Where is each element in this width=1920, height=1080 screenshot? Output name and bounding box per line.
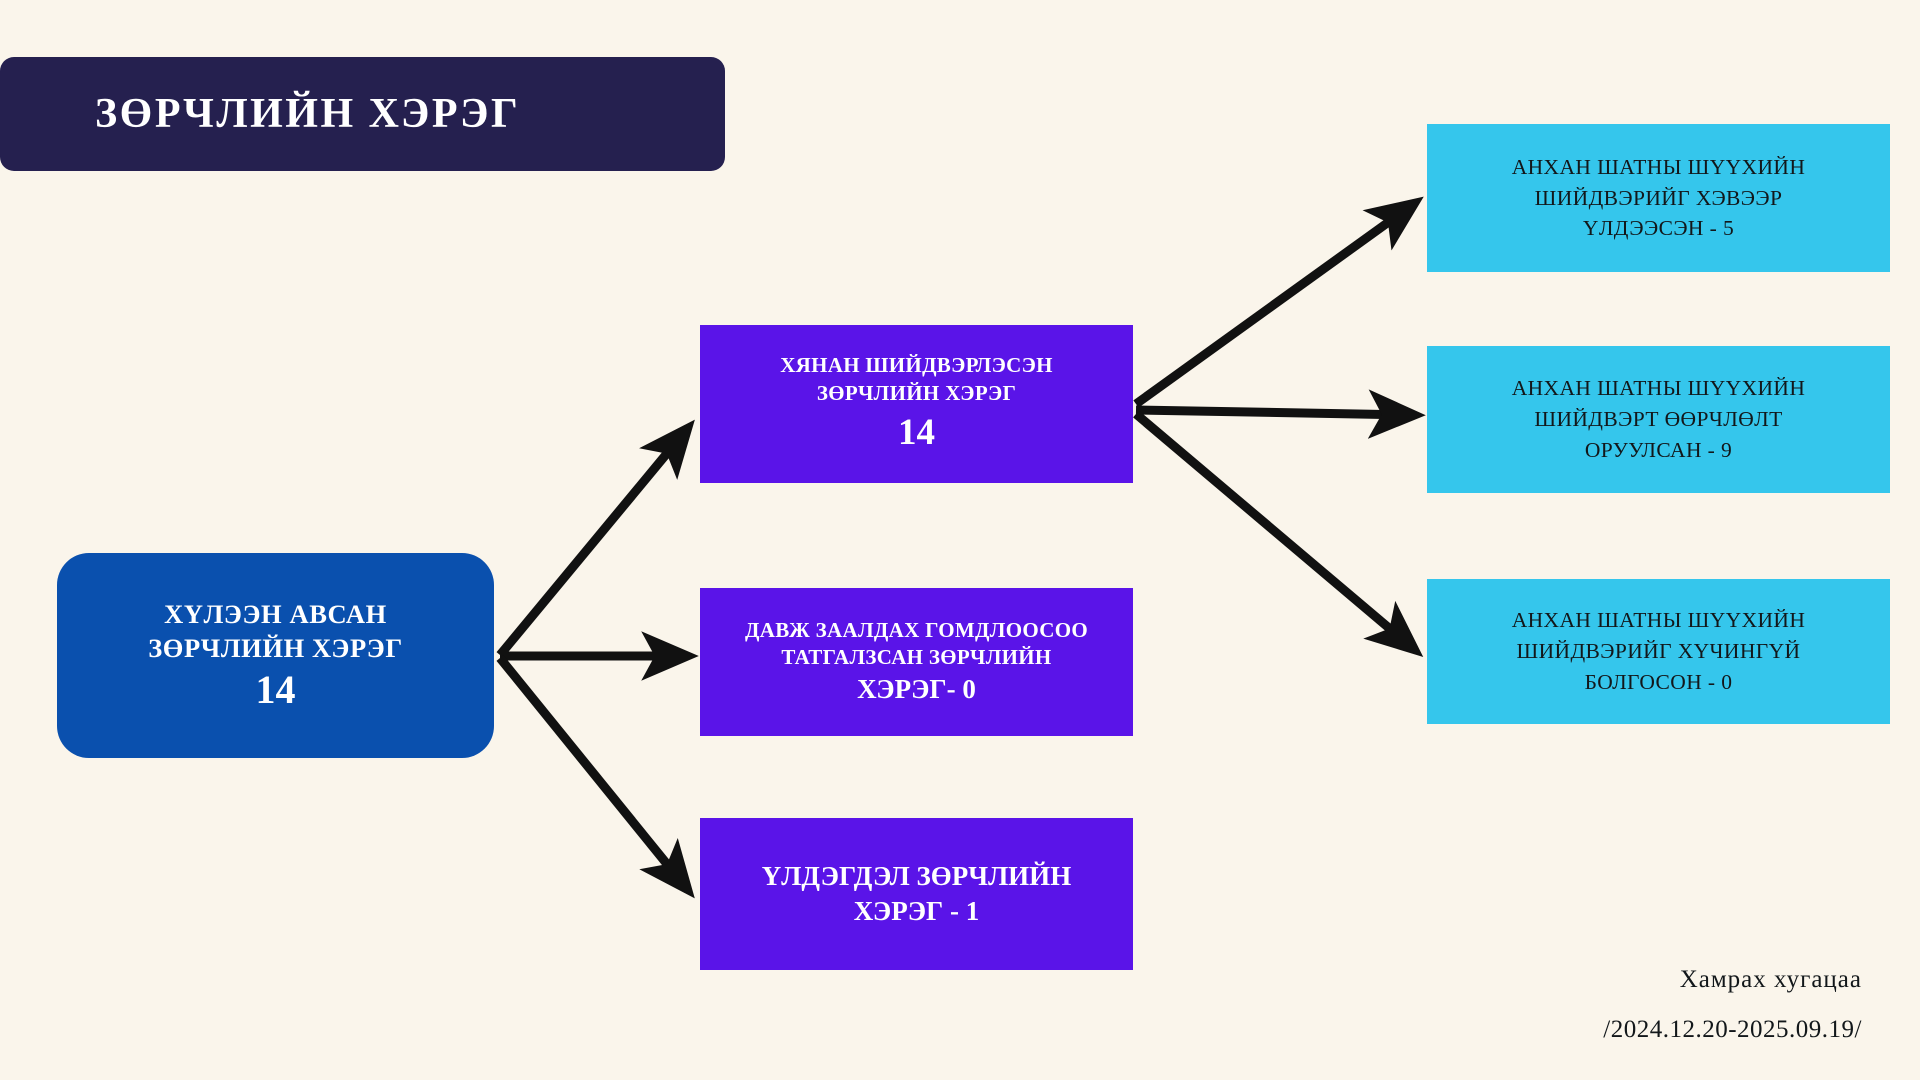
arrow-root-to-remaining (500, 658, 688, 890)
node-value: 14 (898, 411, 935, 455)
footer-period: Хамрах хугацаа /2024.12.20-2025.09.19/ (1603, 966, 1862, 1044)
node-label-line-3: ОРУУЛСАН - 9 (1585, 435, 1732, 466)
node-label-line-1: АНХАН ШАТНЫ ШҮҮХИЙН (1512, 605, 1806, 636)
node-label-line-3: ҮЛДЭЭСЭН - 5 (1583, 213, 1734, 244)
diagram-canvas: ЗӨРЧЛИЙН ХЭРЭГ ХҮЛЭЭН АВСАН ЗӨРЧЛИЙН ХЭР… (0, 0, 1920, 1080)
arrow-reviewed-to-annulled (1136, 414, 1415, 650)
arrow-reviewed-to-upheld (1136, 203, 1415, 404)
footer-label: Хамрах хугацаа (1603, 966, 1862, 994)
node-label-line-2: ТАТГАЛЗСАН ЗӨРЧЛИЙН (781, 644, 1051, 672)
arrow-reviewed-to-amended (1136, 410, 1415, 415)
node-label-line-3: БОЛГОСОН - 0 (1585, 667, 1733, 698)
page-title: ЗӨРЧЛИЙН ХЭРЭГ (0, 90, 520, 138)
node-label-line-1: ХҮЛЭЭН АВСАН (164, 598, 387, 632)
node-label-line-1: АНХАН ШАТНЫ ШҮҮХИЙН (1512, 373, 1806, 404)
node-label-line-2: ШИЙДВЭРИЙГ ХҮЧИНГҮЙ (1517, 636, 1801, 667)
node-decision-annulled: АНХАН ШАТНЫ ШҮҮХИЙН ШИЙДВЭРИЙГ ХҮЧИНГҮЙ … (1427, 579, 1890, 724)
footer-date-range: /2024.12.20-2025.09.19/ (1603, 1016, 1862, 1044)
node-label-line-1: АНХАН ШАТНЫ ШҮҮХИЙН (1512, 152, 1806, 183)
node-decision-amended: АНХАН ШАТНЫ ШҮҮХИЙН ШИЙДВЭРТ ӨӨРЧЛӨЛТ ОР… (1427, 346, 1890, 493)
node-reviewed-cases: ХЯНАН ШИЙДВЭРЛЭСЭН ЗӨРЧЛИЙН ХЭРЭГ 14 (700, 325, 1133, 483)
node-label-line-2: ЗӨРЧЛИЙН ХЭРЭГ (148, 632, 403, 666)
node-label-line-3: ХЭРЭГ- 0 (857, 672, 976, 707)
page-title-banner: ЗӨРЧЛИЙН ХЭРЭГ (0, 57, 725, 171)
node-received-cases: ХҮЛЭЭН АВСАН ЗӨРЧЛИЙН ХЭРЭГ 14 (57, 553, 494, 758)
node-label-line-2: ХЭРЭГ - 1 (854, 894, 979, 929)
node-decision-upheld: АНХАН ШАТНЫ ШҮҮХИЙН ШИЙДВЭРИЙГ ХЭВЭЭР ҮЛ… (1427, 124, 1890, 272)
node-withdrawn-appeal-cases: ДАВЖ ЗААЛДАХ ГОМДЛООСОО ТАТГАЛЗСАН ЗӨРЧЛ… (700, 588, 1133, 736)
node-label-line-2: ШИЙДВЭРИЙГ ХЭВЭЭР (1535, 183, 1783, 214)
node-label-line-2: ШИЙДВЭРТ ӨӨРЧЛӨЛТ (1534, 404, 1782, 435)
node-label-line-1: ХЯНАН ШИЙДВЭРЛЭСЭН (780, 352, 1053, 380)
node-label-line-1: ҮЛДЭГДЭЛ ЗӨРЧЛИЙН (762, 859, 1071, 894)
node-label-line-1: ДАВЖ ЗААЛДАХ ГОМДЛООСОО (745, 617, 1088, 645)
arrow-root-to-reviewed (500, 428, 688, 655)
node-remaining-cases: ҮЛДЭГДЭЛ ЗӨРЧЛИЙН ХЭРЭГ - 1 (700, 818, 1133, 970)
node-value: 14 (256, 667, 296, 713)
node-label-line-2: ЗӨРЧЛИЙН ХЭРЭГ (817, 380, 1016, 408)
